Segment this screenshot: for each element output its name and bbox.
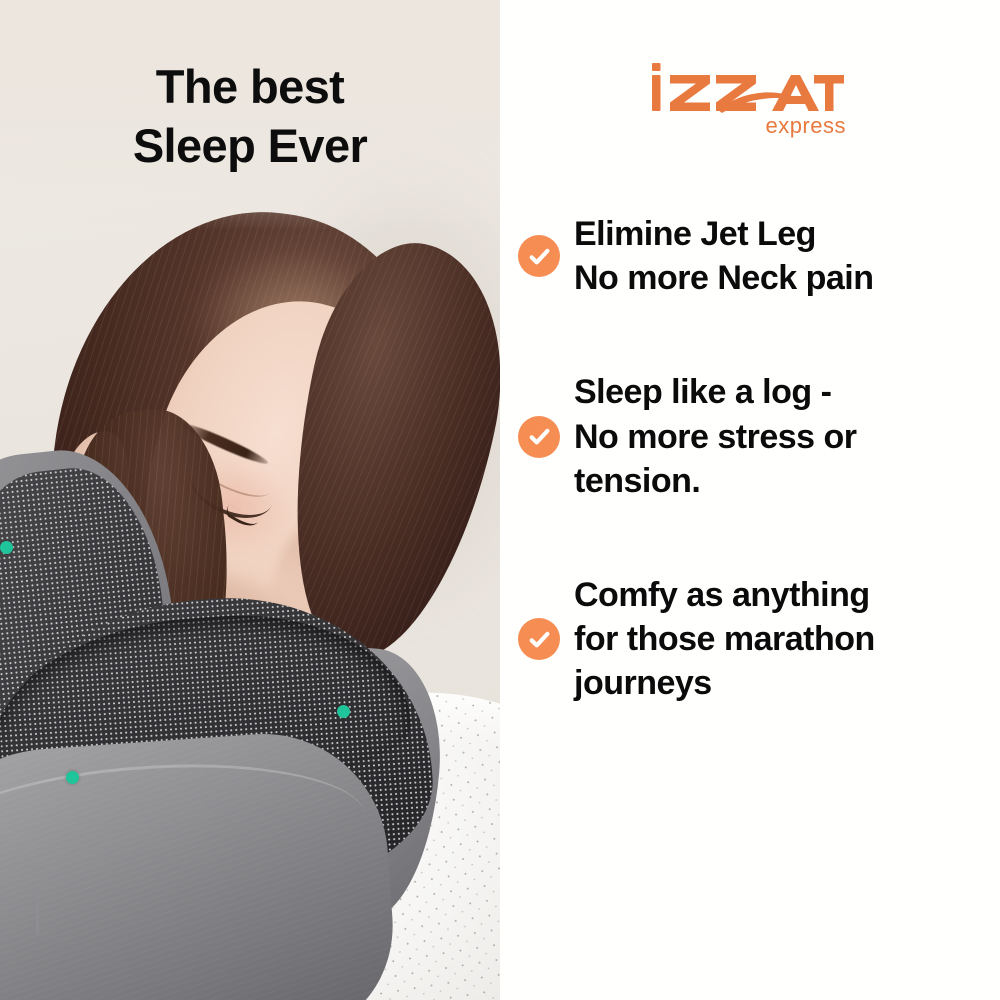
izzat-wordmark-icon xyxy=(648,58,848,118)
check-circle-icon xyxy=(518,416,560,458)
teal-accent-dot xyxy=(66,771,79,784)
list-item: Comfy as anything for those marathon jou… xyxy=(500,573,1000,706)
page-title: The best Sleep Ever xyxy=(0,58,500,176)
check-circle-icon xyxy=(518,235,560,277)
brand-tagline: express xyxy=(765,115,846,137)
teal-accent-dot xyxy=(0,541,13,554)
benefit-line: tension. xyxy=(574,459,857,503)
benefit-text: Elimine Jet Leg No more Neck pain xyxy=(574,212,873,300)
benefit-line: Elimine Jet Leg xyxy=(574,212,873,256)
benefit-text: Sleep like a log - No more stress or ten… xyxy=(574,370,857,503)
check-icon xyxy=(527,627,552,652)
left-panel: The best Sleep Ever xyxy=(0,0,500,1000)
benefit-line: Sleep like a log - xyxy=(574,370,857,414)
headline-line-2: Sleep Ever xyxy=(0,117,500,176)
travel-pillow-body xyxy=(0,726,400,1000)
benefit-line: for those marathon xyxy=(574,617,875,661)
brand-logo[interactable]: express xyxy=(648,58,848,148)
right-panel: express Elimine Jet Leg No more Neck pai… xyxy=(500,0,1000,1000)
product-advertisement: The best Sleep Ever xyxy=(0,0,1000,1000)
pillow-strap xyxy=(36,888,39,934)
benefit-line: journeys xyxy=(574,661,875,705)
benefits-list: Elimine Jet Leg No more Neck pain Sleep … xyxy=(500,212,1000,706)
benefit-line: No more Neck pain xyxy=(574,256,873,300)
list-item: Elimine Jet Leg No more Neck pain xyxy=(500,212,1000,300)
headline-line-1: The best xyxy=(156,60,344,113)
check-icon xyxy=(527,424,552,449)
benefit-line: No more stress or xyxy=(574,415,857,459)
list-item: Sleep like a log - No more stress or ten… xyxy=(500,370,1000,503)
benefit-line: Comfy as anything xyxy=(574,573,875,617)
benefit-text: Comfy as anything for those marathon jou… xyxy=(574,573,875,706)
teal-accent-dot xyxy=(337,705,350,718)
check-circle-icon xyxy=(518,618,560,660)
check-icon xyxy=(527,244,552,269)
